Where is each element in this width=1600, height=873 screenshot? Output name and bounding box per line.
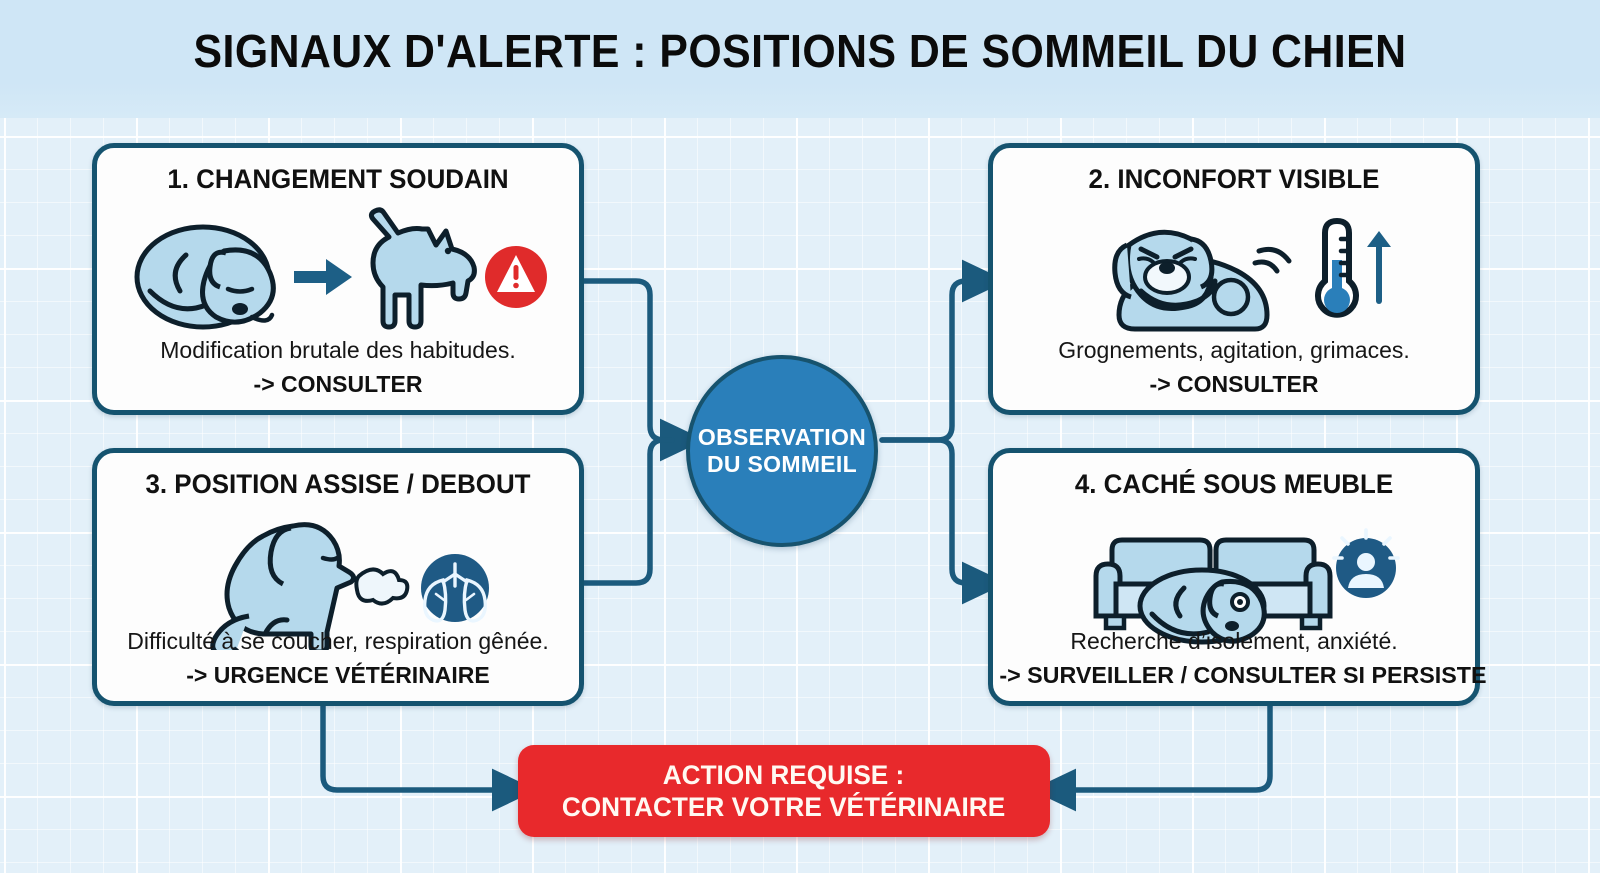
action-required-banner[interactable]: ACTION REQUISE : CONTACTER VOTRE VÉTÉRIN… xyxy=(518,745,1050,837)
connector-card3-to-action xyxy=(323,706,504,790)
infographic-canvas: SIGNAUX D'ALERTE : POSITIONS DE SOMMEIL … xyxy=(0,0,1600,873)
standing-dog-icon xyxy=(371,210,474,327)
center-hub-line1: OBSERVATION xyxy=(698,424,866,450)
card-description: Grognements, agitation, grimaces. xyxy=(1001,337,1467,364)
connector-card4-to-action xyxy=(1064,706,1270,790)
card-illustration xyxy=(993,200,1475,350)
card-inconfort-visible[interactable]: 2. INCONFORT VISIBLE xyxy=(988,143,1480,415)
grumpy-lying-dog-icon xyxy=(1115,232,1289,329)
card-title: 3. POSITION ASSISE / DEBOUT xyxy=(107,469,570,500)
connector-card3-to-hub xyxy=(584,440,672,583)
card-title: 2. INCONFORT VISIBLE xyxy=(1003,164,1466,195)
card-description: Difficulté à se coucher, respiration gên… xyxy=(105,628,571,655)
center-hub-observation[interactable]: OBSERVATION DU SOMMEIL xyxy=(686,355,878,547)
warning-triangle-icon xyxy=(485,246,547,308)
card-action: -> SURVEILLER / CONSULTER SI PERSISTE xyxy=(999,662,1468,689)
card1-art-svg xyxy=(128,205,548,345)
action-banner-label: ACTION REQUISE : CONTACTER VOTRE VÉTÉRIN… xyxy=(562,759,1005,824)
card-action: -> CONSULTER xyxy=(101,371,575,398)
connector-hub-to-card4 xyxy=(882,440,974,583)
lungs-icon xyxy=(421,554,489,622)
card-description: Recherche d’isolement, anxiété. xyxy=(1001,628,1467,655)
action-banner-line2: CONTACTER VOTRE VÉTÉRINAIRE xyxy=(562,792,1005,822)
card-changement-soudain[interactable]: 1. CHANGEMENT SOUDAIN xyxy=(92,143,584,415)
sleeping-dog-icon xyxy=(137,227,273,327)
card-cache-sous-meuble[interactable]: 4. CACHÉ SOUS MEUBLE xyxy=(988,448,1480,706)
card-action: -> URGENCE VÉTÉRINAIRE xyxy=(101,662,575,689)
center-hub-line2: DU SOMMEIL xyxy=(707,451,857,477)
card-position-assise-debout[interactable]: 3. POSITION ASSISE / DEBOUT xyxy=(92,448,584,706)
card-action: -> CONSULTER xyxy=(997,371,1471,398)
card2-art-svg xyxy=(1069,205,1399,345)
action-banner-line1: ACTION REQUISE : xyxy=(663,760,905,790)
thermometer-up-icon xyxy=(1318,221,1391,315)
dog-under-sofa-icon xyxy=(1096,540,1330,642)
card-title: 1. CHANGEMENT SOUDAIN xyxy=(107,164,570,195)
anxious-person-icon xyxy=(1334,530,1398,598)
center-hub-label: OBSERVATION DU SOMMEIL xyxy=(698,424,866,478)
card-title: 4. CACHÉ SOUS MEUBLE xyxy=(1003,469,1466,500)
card-illustration xyxy=(97,200,579,350)
connector-hub-to-card2 xyxy=(882,281,974,440)
arrow-right-icon xyxy=(294,259,352,295)
card-description: Modification brutale des habitudes. xyxy=(105,337,571,364)
connector-card1-to-hub xyxy=(584,281,672,440)
